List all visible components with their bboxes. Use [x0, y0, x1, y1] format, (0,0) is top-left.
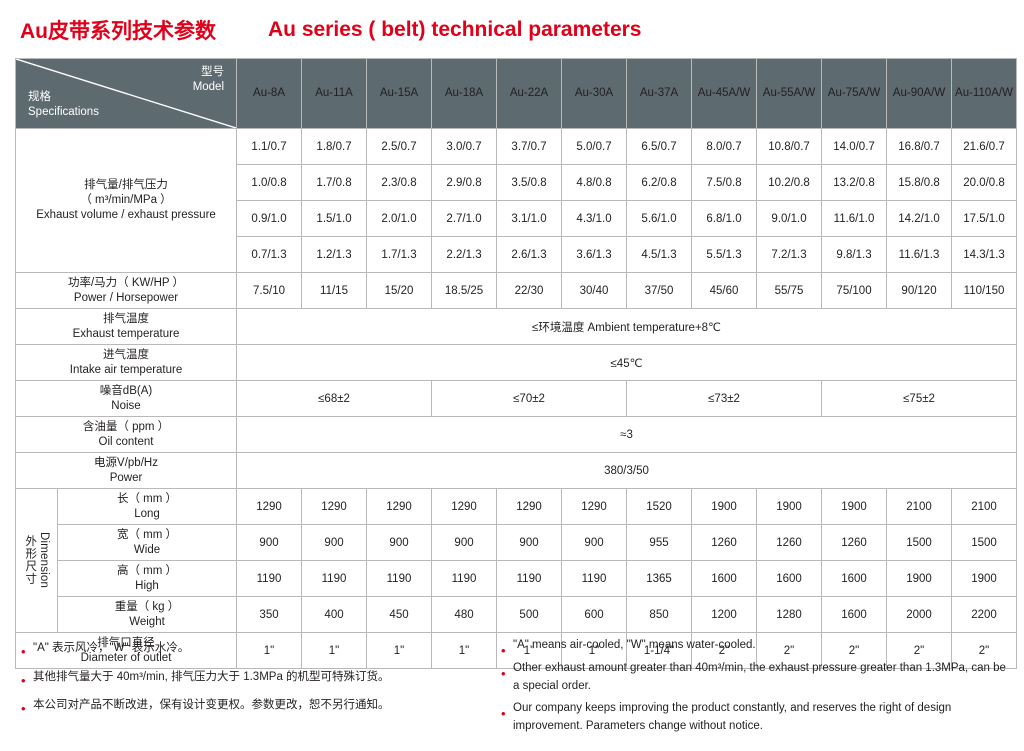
table-cell: 30/40 [562, 273, 627, 309]
table-cell: 1900 [887, 561, 952, 597]
table-row: 噪音dB(A) Noise ≤68±2 ≤70±2 ≤73±2 ≤75±2 [16, 381, 1017, 417]
table-cell: 900 [432, 525, 497, 561]
table-cell: 10.2/0.8 [757, 165, 822, 201]
header-model-en: Model [193, 80, 224, 95]
row-label-dimension-cn: 外形尺寸 [23, 535, 37, 585]
table-cell: 1.7/1.3 [367, 237, 432, 273]
model-header-cell: Au-18A [432, 59, 497, 129]
table-cell: 1.8/0.7 [302, 129, 367, 165]
table-cell: 4.3/1.0 [562, 201, 627, 237]
footnote-item: • "A" means air-cooled, "W" means water-… [500, 637, 1015, 655]
table-cell: 1500 [952, 525, 1017, 561]
row-label-intake-temp: 进气温度 Intake air temperature [16, 345, 237, 381]
table-cell: 900 [237, 525, 302, 561]
table-cell: 1290 [432, 489, 497, 525]
table-cell: 2.0/1.0 [367, 201, 432, 237]
table-cell: 21.6/0.7 [952, 129, 1017, 165]
model-header-cell: Au-90A/W [887, 59, 952, 129]
row-label-intake-temp-cn: 进气温度 [16, 348, 236, 363]
table-cell: 2000 [887, 597, 952, 633]
table-cell-merged: ≤70±2 [432, 381, 627, 417]
table-cell: 2.2/1.3 [432, 237, 497, 273]
row-label-dimension-wide: 宽（ mm ） Wide [58, 525, 237, 561]
row-label-exhaust-temp-cn: 排气温度 [16, 312, 236, 327]
table-cell: 11.6/1.0 [822, 201, 887, 237]
table-cell: 1280 [757, 597, 822, 633]
row-label-oil: 含油量（ ppm ） Oil content [16, 417, 237, 453]
table-cell: 1.0/0.8 [237, 165, 302, 201]
row-label-dimension: 外形尺寸 Dimension [16, 489, 58, 633]
table-cell: 2.9/0.8 [432, 165, 497, 201]
table-cell: 1190 [367, 561, 432, 597]
bullet-icon: • [21, 674, 26, 687]
table-cell: 2.7/1.0 [432, 201, 497, 237]
table-cell: 2200 [952, 597, 1017, 633]
table-row: 宽（ mm ） Wide 900 900 900 900 900 900 955… [16, 525, 1017, 561]
table-cell: 2.3/0.8 [367, 165, 432, 201]
table-cell: 13.2/0.8 [822, 165, 887, 201]
table-cell: 850 [627, 597, 692, 633]
table-cell: 75/100 [822, 273, 887, 309]
row-label-power-en: Power / Horsepower [16, 291, 236, 306]
bullet-icon: • [21, 702, 26, 715]
table-cell: 14.0/0.7 [822, 129, 887, 165]
row-label-oil-cn: 含油量（ ppm ） [16, 420, 236, 435]
table-cell-merged: ≤45℃ [237, 345, 1017, 381]
table-cell: 1260 [757, 525, 822, 561]
dimension-wide-en: Wide [58, 543, 236, 558]
table-cell: 3.6/1.3 [562, 237, 627, 273]
row-label-dimension-long: 长（ mm ） Long [58, 489, 237, 525]
row-label-exhaust-en: Exhaust volume / exhaust pressure [16, 208, 236, 223]
table-cell: 900 [562, 525, 627, 561]
table-cell: 8.0/0.7 [692, 129, 757, 165]
page-title-cn: Au皮带系列技术参数 [20, 15, 216, 45]
table-cell: 7.5/0.8 [692, 165, 757, 201]
specifications-table: 型号 Model 规格 Specifications Au-8A Au-11A … [15, 58, 1017, 669]
table-cell: 3.7/0.7 [497, 129, 562, 165]
dimension-long-en: Long [58, 507, 236, 522]
table-cell-merged: 380/3/50 [237, 453, 1017, 489]
table-cell: 1365 [627, 561, 692, 597]
model-header-cell: Au-11A [302, 59, 367, 129]
footnote-text: "A" 表示风冷，"W" 表示水冷。 [33, 642, 189, 654]
table-cell: 1.1/0.7 [237, 129, 302, 165]
table-cell: 400 [302, 597, 367, 633]
spec-table-wrapper: 型号 Model 规格 Specifications Au-8A Au-11A … [15, 58, 1006, 669]
footnote-item: • Our company keeps improving the produc… [500, 700, 1015, 736]
table-cell: 55/75 [757, 273, 822, 309]
table-cell: 6.8/1.0 [692, 201, 757, 237]
table-cell: 7.2/1.3 [757, 237, 822, 273]
footnote-item: • 其他排气量大于 40m³/min, 排气压力大于 1.3MPa 的机型可特殊… [20, 669, 490, 686]
model-header-cell: Au-30A [562, 59, 627, 129]
table-cell: 450 [367, 597, 432, 633]
table-cell: 3.1/1.0 [497, 201, 562, 237]
table-cell-merged: ≤68±2 [237, 381, 432, 417]
table-cell: 4.8/0.8 [562, 165, 627, 201]
model-header-cell: Au-45A/W [692, 59, 757, 129]
table-cell: 14.2/1.0 [887, 201, 952, 237]
model-header-cell: Au-8A [237, 59, 302, 129]
page-title: Au皮带系列技术参数 Au series ( belt) technical p… [20, 12, 1004, 48]
row-label-intake-temp-en: Intake air temperature [16, 363, 236, 378]
row-label-exhaust-temp-en: Exhaust temperature [16, 327, 236, 342]
table-cell: 1190 [237, 561, 302, 597]
table-cell: 1190 [562, 561, 627, 597]
table-cell: 45/60 [692, 273, 757, 309]
table-row: 排气量/排气压力 （ m³/min/MPa ） Exhaust volume /… [16, 129, 1017, 165]
dimension-weight-en: Weight [58, 615, 236, 630]
table-cell: 11.6/1.3 [887, 237, 952, 273]
footnote-item: • Other exhaust amount greater than 40m³… [500, 660, 1015, 696]
table-cell: 16.8/0.7 [887, 129, 952, 165]
header-corner-cell: 型号 Model 规格 Specifications [16, 59, 237, 129]
row-label-dimension-en: Dimension [38, 532, 50, 588]
dimension-high-en: High [58, 579, 236, 594]
table-cell: 1900 [952, 561, 1017, 597]
table-cell: 0.7/1.3 [237, 237, 302, 273]
table-cell: 18.5/25 [432, 273, 497, 309]
table-cell: 20.0/0.8 [952, 165, 1017, 201]
table-cell-merged: ≈3 [237, 417, 1017, 453]
row-label-supply: 电源V/pb/Hz Power [16, 453, 237, 489]
table-cell: 22/30 [497, 273, 562, 309]
table-cell: 11/15 [302, 273, 367, 309]
table-row: 重量（ kg ） Weight 350 400 450 480 500 600 … [16, 597, 1017, 633]
table-cell: 7.5/10 [237, 273, 302, 309]
footnote-text: Our company keeps improving the product … [513, 702, 951, 732]
table-cell: 6.5/0.7 [627, 129, 692, 165]
table-cell: 1600 [822, 561, 887, 597]
footnote-text: "A" means air-cooled, "W" means water-co… [513, 639, 756, 651]
table-row: 进气温度 Intake air temperature ≤45℃ [16, 345, 1017, 381]
model-header-cell: Au-55A/W [757, 59, 822, 129]
table-cell: 1.2/1.3 [302, 237, 367, 273]
footnote-item: • 本公司对产品不断改进，保有设计变更权。参数更改，恕不另行通知。 [20, 697, 490, 714]
table-row: 排气温度 Exhaust temperature ≤环境温度 Ambient t… [16, 309, 1017, 345]
table-cell: 2100 [952, 489, 1017, 525]
table-cell-merged: ≤环境温度 Ambient temperature+8℃ [237, 309, 1017, 345]
table-cell: 3.0/0.7 [432, 129, 497, 165]
table-cell: 5.0/0.7 [562, 129, 627, 165]
footnote-text: 本公司对产品不断改进，保有设计变更权。参数更改，恕不另行通知。 [33, 699, 390, 711]
table-cell: 1.7/0.8 [302, 165, 367, 201]
dimension-wide-cn: 宽（ mm ） [58, 528, 236, 543]
table-row: 电源V/pb/Hz Power 380/3/50 [16, 453, 1017, 489]
table-cell: 10.8/0.7 [757, 129, 822, 165]
header-spec-label: 规格 Specifications [28, 90, 99, 120]
row-label-noise-cn: 噪音dB(A) [16, 384, 236, 399]
table-cell: 9.0/1.0 [757, 201, 822, 237]
table-cell: 5.6/1.0 [627, 201, 692, 237]
row-label-oil-en: Oil content [16, 435, 236, 450]
table-cell: 1290 [497, 489, 562, 525]
table-row: 功率/马力（ KW/HP ） Power / Horsepower 7.5/10… [16, 273, 1017, 309]
bullet-icon: • [21, 645, 26, 658]
header-model-cn: 型号 [193, 65, 224, 80]
table-cell: 14.3/1.3 [952, 237, 1017, 273]
table-cell: 3.5/0.8 [497, 165, 562, 201]
table-cell: 955 [627, 525, 692, 561]
row-label-power-cn: 功率/马力（ KW/HP ） [16, 276, 236, 291]
table-cell: 1600 [822, 597, 887, 633]
model-header-cell: Au-75A/W [822, 59, 887, 129]
table-cell: 1500 [887, 525, 952, 561]
bullet-icon: • [501, 667, 506, 680]
table-cell: 1190 [497, 561, 562, 597]
table-cell: 6.2/0.8 [627, 165, 692, 201]
table-cell: 2100 [887, 489, 952, 525]
table-cell: 1190 [432, 561, 497, 597]
table-cell: 0.9/1.0 [237, 201, 302, 237]
table-header-row: 型号 Model 规格 Specifications Au-8A Au-11A … [16, 59, 1017, 129]
header-model-label: 型号 Model [193, 65, 224, 95]
table-cell: 9.8/1.3 [822, 237, 887, 273]
table-row: 高（ mm ） High 1190 1190 1190 1190 1190 11… [16, 561, 1017, 597]
dimension-high-cn: 高（ mm ） [58, 564, 236, 579]
footnote-text: 其他排气量大于 40m³/min, 排气压力大于 1.3MPa 的机型可特殊订货… [33, 671, 390, 683]
header-spec-cn: 规格 [28, 90, 99, 105]
table-cell: 1290 [367, 489, 432, 525]
model-header-cell: Au-110A/W [952, 59, 1017, 129]
table-cell: 17.5/1.0 [952, 201, 1017, 237]
row-label-dimension-weight: 重量（ kg ） Weight [58, 597, 237, 633]
table-cell: 1290 [237, 489, 302, 525]
dimension-long-cn: 长（ mm ） [58, 492, 236, 507]
table-cell: 90/120 [887, 273, 952, 309]
row-label-supply-cn: 电源V/pb/Hz [16, 456, 236, 471]
page-root: Au皮带系列技术参数 Au series ( belt) technical p… [0, 0, 1024, 751]
table-cell: 480 [432, 597, 497, 633]
row-label-power: 功率/马力（ KW/HP ） Power / Horsepower [16, 273, 237, 309]
footnote-item: • "A" 表示风冷，"W" 表示水冷。 [20, 640, 490, 657]
table-row: 含油量（ ppm ） Oil content ≈3 [16, 417, 1017, 453]
table-cell: 1260 [822, 525, 887, 561]
table-cell: 1290 [562, 489, 627, 525]
dimension-weight-cn: 重量（ kg ） [58, 600, 236, 615]
table-cell: 1190 [302, 561, 367, 597]
table-cell: 1.5/1.0 [302, 201, 367, 237]
row-label-exhaust-unit: （ m³/min/MPa ） [16, 193, 236, 208]
table-cell: 1900 [822, 489, 887, 525]
table-cell: 1900 [757, 489, 822, 525]
page-title-en: Au series ( belt) technical parameters [268, 18, 641, 42]
row-label-exhaust-cn: 排气量/排气压力 [16, 178, 236, 193]
table-cell: 1200 [692, 597, 757, 633]
row-label-supply-en: Power [16, 471, 236, 486]
table-cell: 4.5/1.3 [627, 237, 692, 273]
row-label-exhaust: 排气量/排气压力 （ m³/min/MPa ） Exhaust volume /… [16, 129, 237, 273]
table-cell: 350 [237, 597, 302, 633]
table-cell: 1600 [757, 561, 822, 597]
table-cell: 900 [497, 525, 562, 561]
table-row: 外形尺寸 Dimension 长（ mm ） Long 1290 1290 12… [16, 489, 1017, 525]
table-cell: 600 [562, 597, 627, 633]
header-spec-en: Specifications [28, 105, 99, 120]
row-label-noise-en: Noise [16, 399, 236, 414]
bullet-icon: • [501, 707, 506, 720]
row-label-noise: 噪音dB(A) Noise [16, 381, 237, 417]
footnotes-english: • "A" means air-cooled, "W" means water-… [500, 637, 1015, 741]
table-cell: 1520 [627, 489, 692, 525]
table-cell: 2.5/0.7 [367, 129, 432, 165]
table-cell: 2.6/1.3 [497, 237, 562, 273]
table-cell: 900 [302, 525, 367, 561]
table-cell: 15.8/0.8 [887, 165, 952, 201]
table-cell: 500 [497, 597, 562, 633]
table-cell-merged: ≤73±2 [627, 381, 822, 417]
table-cell: 1260 [692, 525, 757, 561]
model-header-cell: Au-22A [497, 59, 562, 129]
table-cell: 5.5/1.3 [692, 237, 757, 273]
footnotes-chinese: • "A" 表示风冷，"W" 表示水冷。 • 其他排气量大于 40m³/min,… [20, 640, 490, 726]
row-label-dimension-high: 高（ mm ） High [58, 561, 237, 597]
model-header-cell: Au-37A [627, 59, 692, 129]
row-label-exhaust-temp: 排气温度 Exhaust temperature [16, 309, 237, 345]
table-cell: 15/20 [367, 273, 432, 309]
table-cell: 37/50 [627, 273, 692, 309]
footnote-text: Other exhaust amount greater than 40m³/m… [513, 662, 1006, 692]
table-cell-merged: ≤75±2 [822, 381, 1017, 417]
table-cell: 110/150 [952, 273, 1017, 309]
table-cell: 1900 [692, 489, 757, 525]
model-header-cell: Au-15A [367, 59, 432, 129]
table-cell: 1290 [302, 489, 367, 525]
table-cell: 1600 [692, 561, 757, 597]
table-cell: 900 [367, 525, 432, 561]
bullet-icon: • [501, 644, 506, 657]
